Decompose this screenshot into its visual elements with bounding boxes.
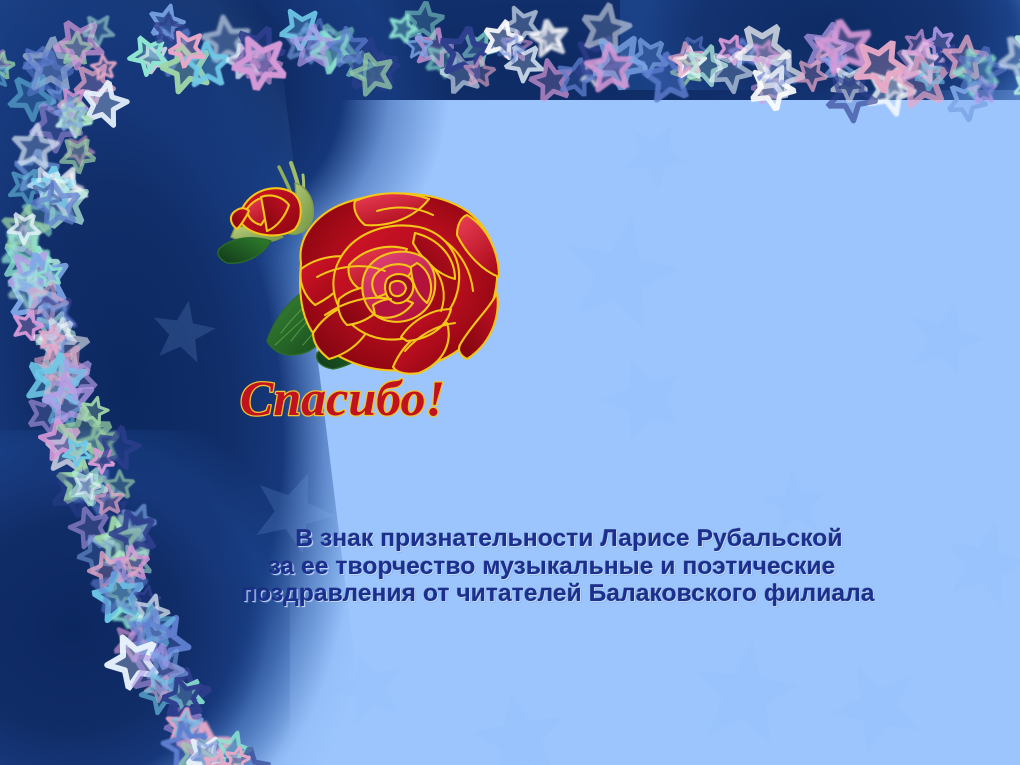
star-icon bbox=[532, 20, 569, 57]
ghost-star-icon bbox=[321, 641, 417, 737]
presentation-slide: Спасибо! В знак признательности Ларисе Р… bbox=[0, 0, 1020, 765]
star-icon bbox=[178, 35, 238, 95]
star-icon bbox=[119, 634, 193, 708]
ghost-star-icon bbox=[588, 343, 701, 456]
star-icon bbox=[37, 364, 82, 409]
star-icon bbox=[223, 745, 273, 765]
star-icon bbox=[917, 20, 961, 64]
star-icon bbox=[935, 28, 997, 90]
star-icon bbox=[725, 12, 799, 86]
star-icon bbox=[555, 56, 598, 99]
star-icon bbox=[675, 30, 712, 67]
star-icon bbox=[32, 341, 76, 385]
star-icon bbox=[6, 224, 40, 258]
star-icon bbox=[5, 165, 48, 208]
star-icon bbox=[171, 715, 242, 765]
star-icon bbox=[745, 61, 799, 115]
star-icon bbox=[887, 30, 954, 97]
star-icon bbox=[418, 36, 467, 85]
star-icon bbox=[85, 50, 122, 87]
star-icon bbox=[120, 26, 176, 82]
star-icon bbox=[727, 36, 761, 70]
navy-border-top bbox=[0, 0, 1020, 100]
star-icon bbox=[413, 27, 457, 71]
star-icon bbox=[206, 725, 257, 765]
star-icon bbox=[120, 603, 183, 666]
star-icon bbox=[54, 84, 92, 122]
star-icon bbox=[850, 35, 911, 96]
star-icon bbox=[198, 748, 235, 765]
star-icon bbox=[0, 49, 18, 82]
star-icon bbox=[165, 27, 208, 70]
star-icon bbox=[0, 58, 12, 92]
star-icon bbox=[167, 706, 204, 743]
star-icon bbox=[0, 41, 16, 82]
star-icon bbox=[57, 96, 88, 127]
star-icon bbox=[13, 187, 71, 245]
star-icon bbox=[185, 734, 227, 765]
star-icon bbox=[65, 464, 110, 509]
star-icon bbox=[47, 348, 107, 408]
star-icon bbox=[227, 17, 293, 83]
star-icon bbox=[222, 744, 253, 765]
star-icon bbox=[225, 42, 263, 80]
star-icon bbox=[385, 10, 421, 46]
star-icon bbox=[751, 47, 804, 100]
star-icon bbox=[818, 48, 859, 89]
star-icon bbox=[87, 478, 131, 522]
star-icon bbox=[20, 89, 92, 161]
star-icon bbox=[812, 14, 878, 80]
star-icon bbox=[635, 45, 701, 111]
star-icon bbox=[28, 180, 64, 216]
star-icon bbox=[81, 553, 157, 629]
star-icon bbox=[25, 286, 85, 346]
star-icon bbox=[815, 61, 885, 131]
star-icon bbox=[86, 510, 150, 574]
star-icon bbox=[306, 25, 357, 76]
star-icon bbox=[495, 25, 537, 67]
star-icon bbox=[101, 570, 144, 613]
star-icon bbox=[74, 473, 101, 500]
star-icon bbox=[154, 35, 218, 99]
ghost-star-icon bbox=[549, 204, 691, 346]
star-icon bbox=[155, 714, 218, 765]
star-icon bbox=[176, 716, 208, 748]
star-icon bbox=[27, 291, 82, 346]
star-icon bbox=[663, 35, 712, 84]
star-icon bbox=[30, 166, 76, 212]
star-icon bbox=[33, 257, 67, 291]
star-icon bbox=[150, 660, 220, 730]
star-icon bbox=[81, 545, 134, 598]
star-icon bbox=[102, 514, 152, 564]
ghost-star-icon bbox=[896, 291, 995, 390]
star-icon bbox=[993, 29, 1020, 89]
star-icon bbox=[172, 733, 218, 765]
star-icon bbox=[572, 0, 640, 63]
star-icon bbox=[86, 443, 120, 477]
star-icon bbox=[6, 246, 61, 301]
star-icon bbox=[931, 42, 963, 74]
star-icon bbox=[99, 465, 141, 507]
star-icon bbox=[898, 24, 938, 64]
star-icon bbox=[72, 416, 129, 473]
ghost-star-icon bbox=[462, 682, 578, 765]
star-icon bbox=[97, 625, 170, 698]
star-icon bbox=[810, 26, 850, 66]
star-icon bbox=[38, 340, 94, 396]
star-icon bbox=[578, 58, 610, 90]
star-icon bbox=[527, 17, 571, 61]
star-icon bbox=[48, 92, 94, 138]
star-icon bbox=[36, 324, 66, 354]
star-icon bbox=[0, 243, 64, 307]
star-icon bbox=[162, 676, 205, 719]
ghost-star-icon bbox=[607, 107, 703, 203]
star-icon bbox=[88, 418, 147, 477]
star-icon bbox=[278, 7, 324, 53]
star-icon bbox=[138, 641, 193, 696]
spasibo-script-word: Спасибо! bbox=[236, 368, 516, 430]
star-icon bbox=[18, 386, 74, 442]
star-icon bbox=[177, 729, 228, 765]
star-icon bbox=[57, 129, 99, 171]
gratitude-caption: В знак признательности Ларисе Рубальской… bbox=[150, 525, 960, 608]
caption-line-2: за ее творчество музыкальные и поэтическ… bbox=[150, 553, 960, 581]
star-icon bbox=[1, 263, 53, 315]
star-icon bbox=[789, 52, 833, 96]
star-icon bbox=[523, 53, 580, 110]
star-icon bbox=[939, 75, 993, 129]
star-icon bbox=[819, 40, 852, 73]
star-icon bbox=[858, 59, 921, 122]
star-icon bbox=[964, 72, 1002, 110]
star-icon bbox=[751, 45, 810, 104]
star-icon bbox=[338, 45, 379, 86]
star-icon bbox=[74, 531, 121, 578]
star-icon bbox=[28, 170, 98, 240]
star-icon bbox=[1011, 73, 1020, 103]
star-icon bbox=[135, 40, 173, 78]
star-icon bbox=[952, 41, 1010, 99]
star-icon bbox=[346, 46, 400, 100]
caption-line-3: поздравления от читателей Балаковского ф… bbox=[150, 580, 960, 608]
star-icon bbox=[711, 29, 751, 69]
star-icon bbox=[793, 14, 862, 83]
star-icon bbox=[78, 10, 118, 50]
star-icon bbox=[30, 308, 79, 357]
star-icon bbox=[67, 57, 121, 111]
star-icon bbox=[454, 24, 502, 72]
star-icon bbox=[229, 32, 291, 94]
star-icon bbox=[17, 347, 86, 416]
svg-text:Спасибо!: Спасибо! bbox=[240, 370, 445, 426]
star-icon bbox=[139, 667, 179, 707]
star-icon bbox=[89, 567, 149, 627]
star-icon bbox=[459, 51, 502, 94]
star-icon bbox=[0, 268, 66, 335]
star-icon bbox=[298, 15, 338, 55]
star-icon bbox=[304, 14, 366, 76]
star-icon bbox=[897, 37, 947, 87]
star-icon bbox=[945, 38, 1010, 103]
star-icon bbox=[19, 47, 76, 104]
star-icon bbox=[33, 309, 85, 361]
star-icon bbox=[493, 29, 530, 66]
star-icon bbox=[53, 96, 98, 141]
star-icon bbox=[32, 411, 89, 468]
star-icon bbox=[47, 450, 114, 517]
star-icon bbox=[831, 65, 868, 102]
star-icon bbox=[234, 39, 271, 76]
star-icon bbox=[137, 15, 205, 83]
star-icon bbox=[184, 731, 229, 765]
star-icon bbox=[402, 0, 446, 43]
star-icon bbox=[666, 40, 712, 86]
star-icon bbox=[46, 84, 77, 115]
star-icon bbox=[37, 382, 90, 435]
star-icon bbox=[48, 168, 88, 208]
star-icon bbox=[27, 347, 93, 413]
star-icon bbox=[667, 52, 708, 93]
star-icon bbox=[406, 33, 433, 60]
ghost-star-icon bbox=[683, 633, 807, 757]
star-icon bbox=[64, 458, 128, 522]
star-icon bbox=[56, 133, 100, 177]
star-icon bbox=[884, 42, 962, 120]
star-icon bbox=[160, 703, 208, 751]
star-icon bbox=[73, 72, 136, 135]
star-icon bbox=[34, 368, 103, 437]
star-icon bbox=[111, 621, 154, 664]
star-icon bbox=[228, 39, 269, 80]
star-icon bbox=[36, 321, 76, 361]
star-icon bbox=[498, 35, 551, 88]
star-icon bbox=[499, 3, 543, 47]
star-icon bbox=[48, 465, 103, 520]
star-icon bbox=[677, 37, 734, 94]
star-icon bbox=[160, 669, 211, 720]
star-icon bbox=[11, 240, 69, 298]
star-icon bbox=[439, 51, 483, 95]
star-icon bbox=[108, 554, 145, 591]
star-icon bbox=[275, 16, 332, 73]
star-icon bbox=[147, 9, 189, 51]
star-icon bbox=[913, 59, 947, 93]
star-icon bbox=[0, 225, 51, 277]
star-icon bbox=[50, 94, 99, 143]
star-icon bbox=[16, 273, 75, 332]
star-icon bbox=[23, 172, 91, 240]
star-icon bbox=[286, 20, 341, 75]
star-icon bbox=[239, 42, 285, 88]
star-icon bbox=[320, 20, 377, 77]
star-icon bbox=[12, 147, 60, 195]
caption-line-1: В знак признательности Ларисе Рубальской bbox=[150, 525, 960, 553]
red-rose-image bbox=[205, 145, 515, 390]
star-icon bbox=[163, 705, 206, 748]
star-icon bbox=[701, 42, 759, 100]
star-icon bbox=[34, 163, 91, 220]
star-icon bbox=[474, 12, 528, 66]
star-icon bbox=[578, 36, 643, 101]
star-icon bbox=[140, 0, 191, 49]
ghost-star-icon bbox=[814, 644, 940, 765]
star-icon bbox=[570, 32, 629, 91]
star-icon bbox=[357, 46, 406, 95]
star-icon bbox=[23, 310, 98, 385]
star-icon bbox=[12, 310, 44, 342]
star-icon bbox=[45, 8, 113, 76]
star-icon bbox=[622, 29, 677, 84]
star-icon bbox=[12, 251, 71, 310]
star-icon bbox=[101, 496, 131, 526]
star-icon bbox=[62, 499, 119, 556]
star-icon bbox=[126, 606, 197, 677]
star-icon bbox=[435, 23, 495, 83]
star-icon bbox=[2, 205, 48, 251]
star-icon bbox=[1012, 41, 1020, 89]
star-icon bbox=[74, 392, 114, 432]
star-icon bbox=[1008, 18, 1020, 73]
star-icon bbox=[59, 434, 96, 471]
star-icon bbox=[50, 398, 121, 469]
star-icon bbox=[111, 597, 144, 630]
star-icon bbox=[589, 32, 649, 92]
star-icon bbox=[17, 40, 59, 82]
star-icon bbox=[0, 64, 65, 130]
navy-border-top-right bbox=[620, 0, 1020, 90]
star-icon bbox=[55, 28, 96, 69]
star-icon bbox=[0, 198, 58, 265]
star-icon bbox=[22, 160, 71, 209]
star-icon bbox=[750, 72, 783, 105]
star-icon bbox=[112, 597, 182, 667]
star-icon bbox=[18, 31, 86, 99]
star-icon bbox=[0, 230, 56, 289]
star-icon bbox=[332, 30, 407, 105]
star-icon bbox=[132, 663, 190, 721]
star-icon bbox=[193, 9, 258, 74]
star-icon bbox=[44, 427, 93, 476]
star-icon bbox=[2, 116, 66, 180]
star-icon bbox=[746, 35, 784, 73]
star-icon bbox=[872, 65, 913, 106]
